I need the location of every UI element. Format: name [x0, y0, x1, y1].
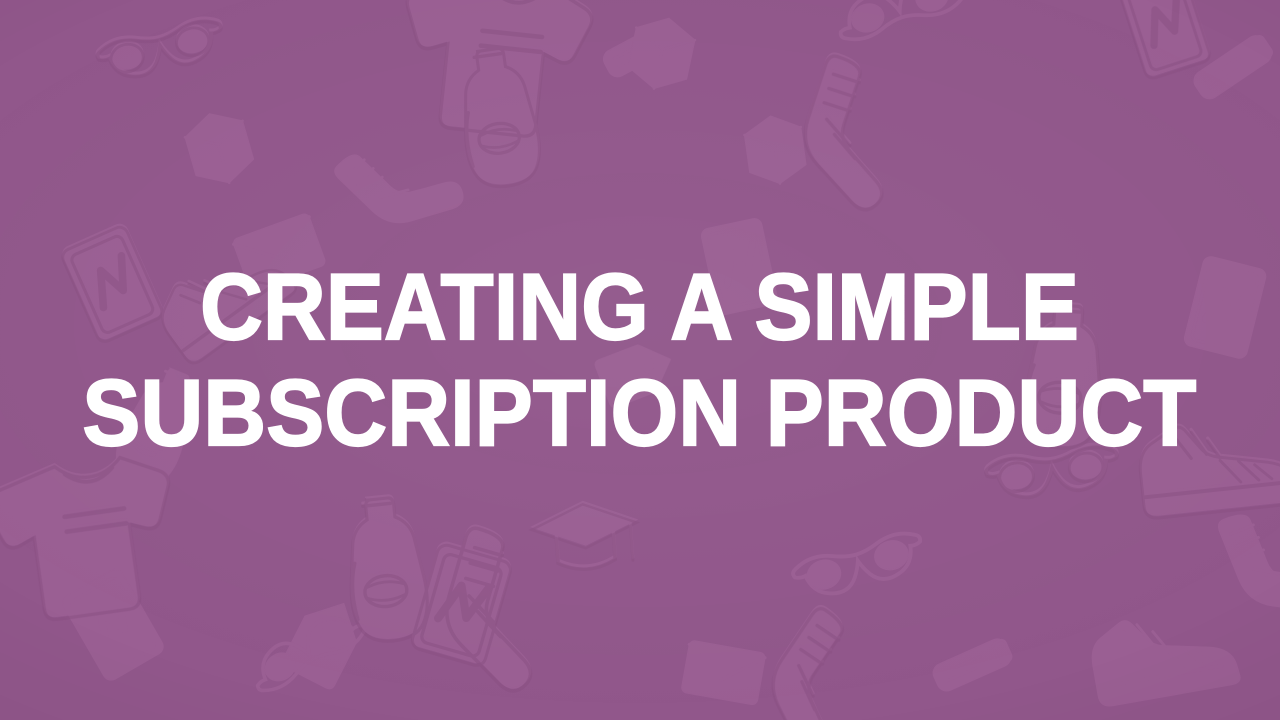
title-line-2: SUBSCRIPTION PRODUCT — [83, 361, 1197, 465]
title-slide: CREATING A SIMPLE SUBSCRIPTION PRODUCT — [0, 0, 1280, 720]
slide-title: CREATING A SIMPLE SUBSCRIPTION PRODUCT — [0, 0, 1280, 720]
title-line-1: CREATING A SIMPLE — [200, 255, 1079, 359]
